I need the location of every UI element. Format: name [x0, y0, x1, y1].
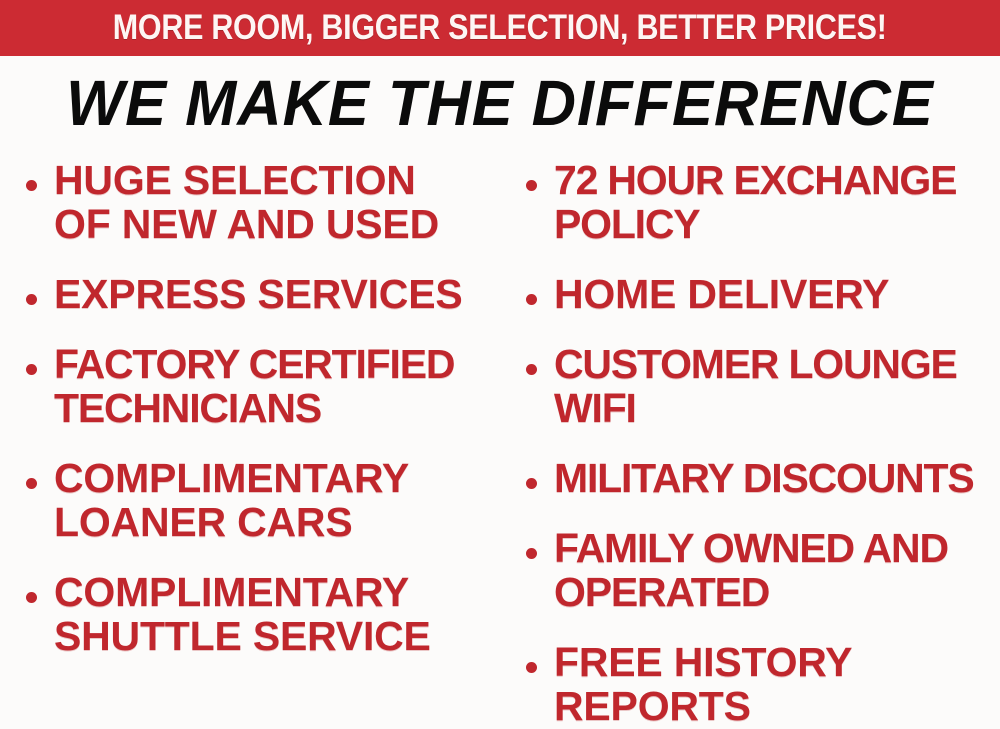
- list-item-label: MILITARY DISCOUNTS: [554, 456, 1000, 500]
- bullet-dot-icon: [526, 294, 537, 305]
- list-item-label: COMPLIMENTARY LOANER CARS: [54, 456, 500, 544]
- bullet-dot-icon: [526, 662, 537, 673]
- promo-banner: MORE ROOM, BIGGER SELECTION, BETTER PRIC…: [0, 0, 1000, 56]
- list-item-label: COMPLIMENTARY SHUTTLE SERVICE: [54, 570, 500, 658]
- list-item: CUSTOMER LOUNGE WIFI: [514, 342, 1000, 430]
- list-item: FREE HISTORY REPORTS: [514, 640, 1000, 728]
- bullet-dot-icon: [26, 180, 37, 191]
- list-item-label: FACTORY CERTIFIED TECHNICIANS: [54, 342, 500, 430]
- promo-banner-text: MORE ROOM, BIGGER SELECTION, BETTER PRIC…: [113, 10, 887, 46]
- bullet-dot-icon: [26, 364, 37, 375]
- list-item: FACTORY CERTIFIED TECHNICIANS: [16, 342, 500, 430]
- list-item-label: CUSTOMER LOUNGE WIFI: [554, 342, 1000, 430]
- benefits-columns: HUGE SELECTION OF NEW AND USED EXPRESS S…: [0, 158, 1000, 694]
- benefits-column-right: 72 HOUR EXCHANGE POLICY HOME DELIVERY CU…: [514, 158, 1000, 694]
- list-item-label: FAMILY OWNED AND OPERATED: [554, 526, 1000, 614]
- list-item: HUGE SELECTION OF NEW AND USED: [16, 158, 500, 246]
- page-title: WE MAKE THE DIFFERENCE: [20, 68, 980, 138]
- list-item: COMPLIMENTARY LOANER CARS: [16, 456, 500, 544]
- list-item-label: HOME DELIVERY: [554, 272, 1000, 316]
- list-item: COMPLIMENTARY SHUTTLE SERVICE: [16, 570, 500, 658]
- benefits-column-left: HUGE SELECTION OF NEW AND USED EXPRESS S…: [16, 158, 500, 694]
- list-item: 72 HOUR EXCHANGE POLICY: [514, 158, 1000, 246]
- bullet-dot-icon: [526, 548, 537, 559]
- list-item: MILITARY DISCOUNTS: [514, 456, 1000, 500]
- list-item: EXPRESS SERVICES: [16, 272, 500, 316]
- bullet-dot-icon: [26, 592, 37, 603]
- bullet-dot-icon: [26, 478, 37, 489]
- list-item-label: EXPRESS SERVICES: [54, 272, 500, 316]
- bullet-dot-icon: [526, 478, 537, 489]
- bullet-dot-icon: [26, 294, 37, 305]
- list-item: FAMILY OWNED AND OPERATED: [514, 526, 1000, 614]
- list-item-label: HUGE SELECTION OF NEW AND USED: [54, 158, 500, 246]
- list-item: HOME DELIVERY: [514, 272, 1000, 316]
- list-item-label: FREE HISTORY REPORTS: [554, 640, 1000, 728]
- bullet-dot-icon: [526, 364, 537, 375]
- list-item-label: 72 HOUR EXCHANGE POLICY: [554, 158, 1000, 246]
- promo-poster: MORE ROOM, BIGGER SELECTION, BETTER PRIC…: [0, 0, 1000, 694]
- bullet-dot-icon: [526, 180, 537, 191]
